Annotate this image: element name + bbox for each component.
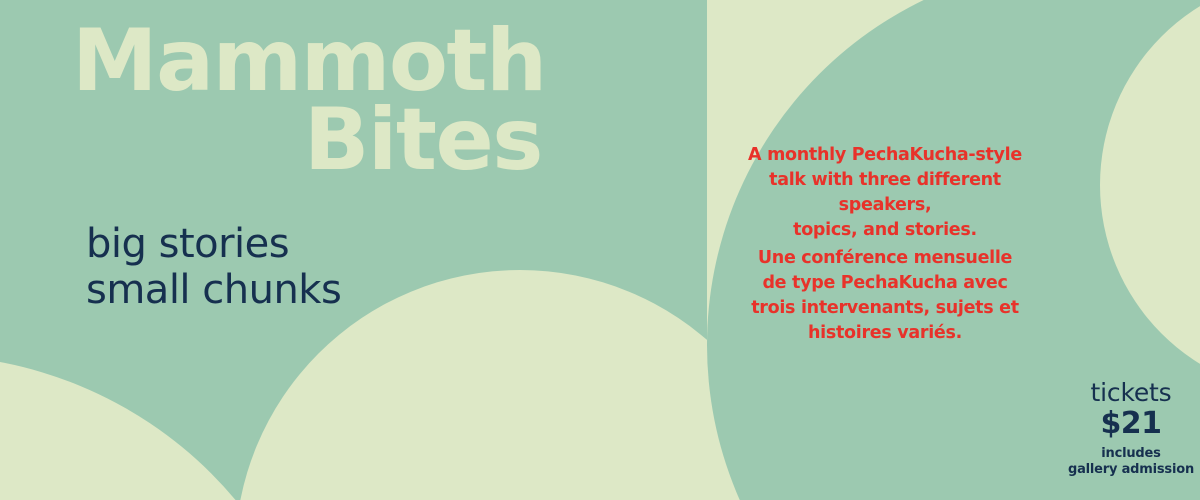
- description-english-line-1: A monthly PechaKucha-style: [725, 143, 1045, 168]
- description-english-line-2: talk with three different speakers,: [725, 168, 1045, 218]
- left-panel: Mammoth Bites big stories small chunks: [0, 0, 707, 500]
- tickets-label: tickets: [1062, 380, 1200, 406]
- description-french-line-1: Une conférence mensuelle: [725, 246, 1045, 271]
- description-french-line-2: de type PechaKucha avec: [725, 271, 1045, 296]
- center-panel: A monthly PechaKucha-style talk with thr…: [707, 0, 1062, 500]
- description-english-line-3: topics, and stories.: [725, 218, 1045, 243]
- tickets-note: includes gallery admission: [1062, 446, 1200, 478]
- right-panel: tickets $21 includes gallery admission: [1062, 0, 1200, 500]
- tickets-price: $21: [1062, 406, 1200, 441]
- poster-title: Mammoth Bites: [72, 22, 552, 180]
- description-french-line-4: histoires variés.: [725, 321, 1045, 346]
- subtitle-line-1: big stories: [86, 222, 341, 268]
- tickets-info: tickets $21 includes gallery admission: [1062, 380, 1200, 478]
- poster-canvas: Mammoth Bites big stories small chunks A…: [0, 0, 1200, 500]
- poster-subtitle: big stories small chunks: [86, 222, 341, 313]
- description-french-line-3: trois intervenants, sujets et: [725, 296, 1045, 321]
- tickets-note-line-2: gallery admission: [1062, 462, 1200, 478]
- description-english: A monthly PechaKucha-style talk with thr…: [725, 143, 1045, 242]
- title-line-2: Bites: [72, 101, 552, 180]
- subtitle-line-2: small chunks: [86, 268, 341, 314]
- description-french: Une conférence mensuelle de type PechaKu…: [725, 246, 1045, 345]
- tickets-note-line-1: includes: [1062, 446, 1200, 462]
